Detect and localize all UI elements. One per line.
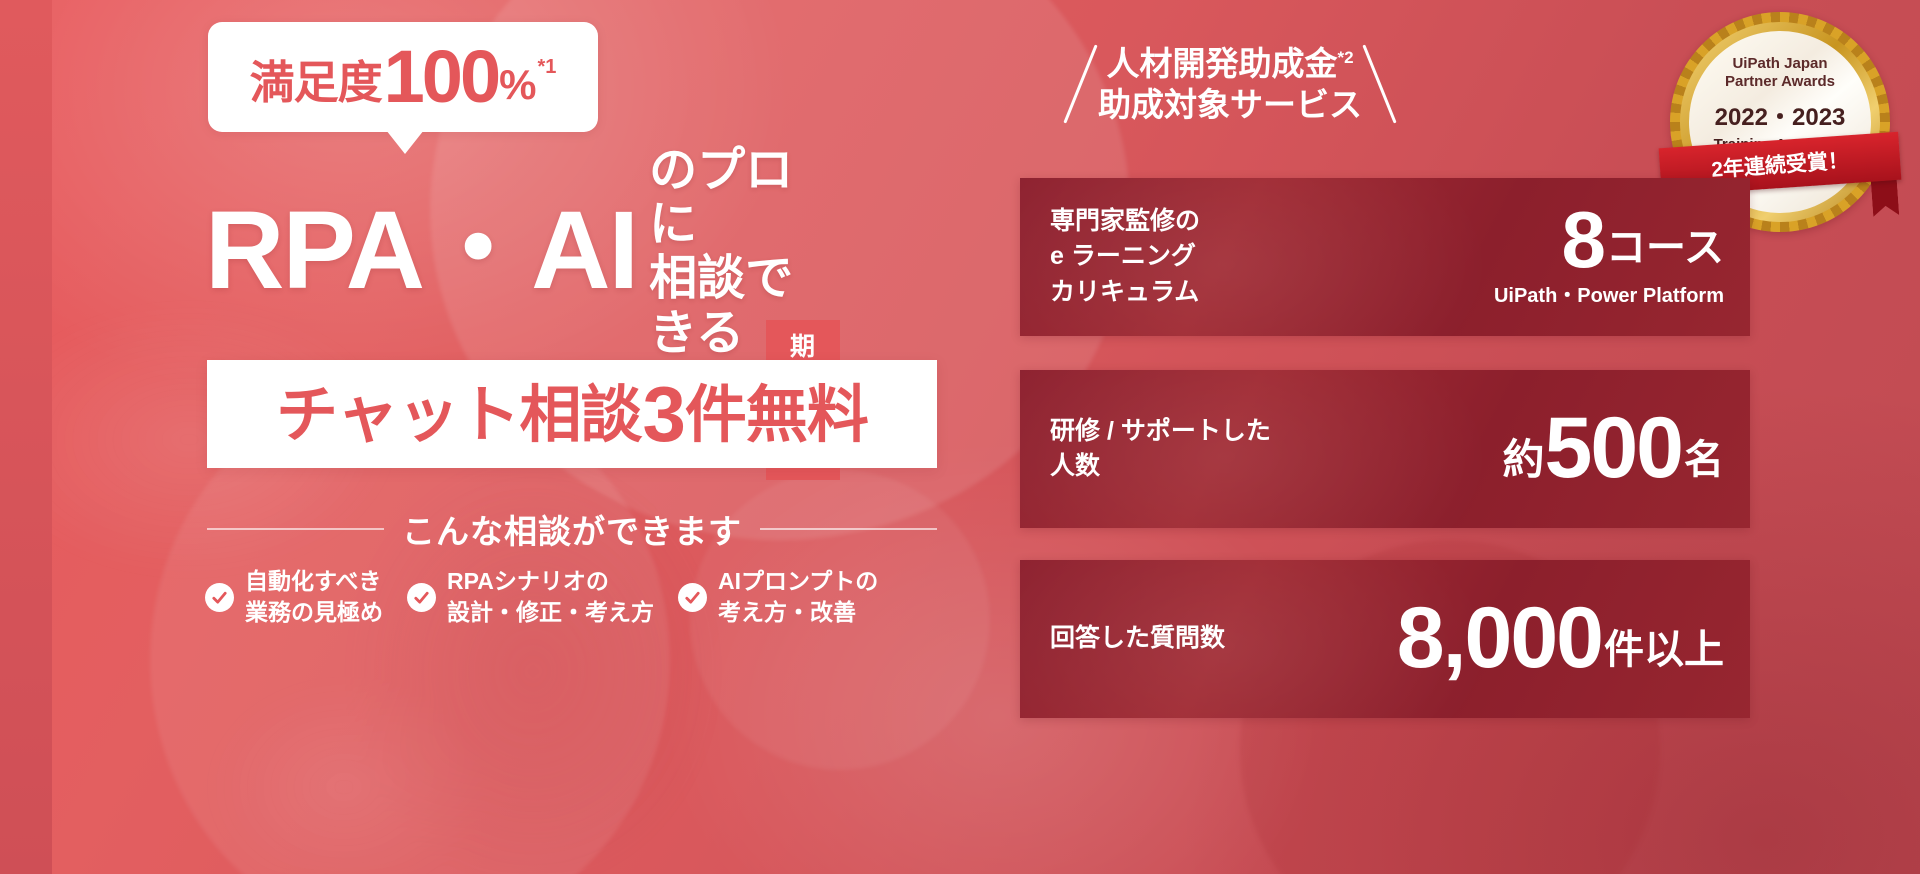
stat-value-subtext: UiPath・Power Platform [1494, 279, 1724, 308]
satisfaction-badge: 満足度 100 % *1 [208, 22, 598, 132]
chat-consultation-offer: チャット相談 3 件無料 [207, 360, 937, 468]
stat-card-value: 8,000 件以上 [1397, 602, 1750, 675]
satisfaction-label: 満足度 [250, 60, 382, 110]
stat-label-line2: e ラーニング [1050, 242, 1196, 270]
slash-decoration-left [1063, 44, 1097, 123]
check-circle-icon [678, 583, 707, 612]
chat-offer-count: 3 [642, 379, 683, 449]
satisfaction-number: 100 [384, 44, 498, 109]
stat-label-line1: 回答した質問数 [1050, 624, 1225, 652]
stat-value-number: 8,000 [1397, 602, 1602, 675]
list-item: RPAシナリオの 設計・修正・考え方 [407, 566, 654, 628]
headline-sub-line1: のプロに [649, 144, 793, 251]
stat-value-unit: 名 [1684, 440, 1724, 486]
stat-value-number: 500 [1545, 412, 1683, 485]
ribbon-tail-right [1871, 179, 1899, 217]
consultation-topics-label: こんな相談ができます [402, 505, 742, 553]
stat-card-value: 約 500 名 [1502, 412, 1750, 485]
stat-label-line1: 専門家監修の [1050, 207, 1200, 235]
subsidy-line2: 助成対象サービス [1098, 86, 1362, 123]
stat-value-unit: コース [1606, 228, 1724, 274]
check-circle-icon [407, 583, 436, 612]
stat-value-prefix: 約 [1502, 439, 1544, 486]
chat-offer-suffix: 件無料 [685, 385, 868, 449]
consultation-topics-heading: こんな相談ができます [207, 505, 937, 553]
satisfaction-footnote: *1 [537, 44, 556, 79]
headline-main-text: RPA・AI [205, 199, 637, 302]
slash-decoration-right [1362, 44, 1396, 123]
satisfaction-percent-symbol: % [499, 64, 536, 110]
stat-card-questions-answered: 回答した質問数 8,000 件以上 [1020, 560, 1750, 718]
stat-card-label: 専門家監修の e ラーニング カリキュラム [1020, 204, 1200, 311]
stat-card-people-trained: 研修 / サポートした 人数 約 500 名 [1020, 370, 1750, 528]
page-title: RPA・AI のプロに 相談できる [205, 140, 840, 361]
list-item-line1: RPAシナリオの [447, 568, 609, 594]
list-item-line1: 自動化すべき [245, 568, 381, 594]
list-item-line2: 考え方・改善 [718, 599, 856, 625]
right-content-column: 人材開発助成金*2 助成対象サービス UiPath Japan Partner … [1020, 0, 1920, 874]
consultation-topics-list: 自動化すべき 業務の見極め RPAシナリオの 設計・修正・考え方 [205, 566, 945, 628]
list-item-line2: 業務の見極め [245, 599, 383, 625]
list-item-line1: AIプロンプトの [718, 568, 878, 594]
stat-label-line3: カリキュラム [1050, 278, 1199, 306]
left-content-column: 満足度 100 % *1 RPA・AI のプロに 相談できる 期限なし チャット… [0, 0, 840, 874]
list-item: AIプロンプトの 考え方・改善 [678, 566, 878, 628]
subsidy-eligibility-heading: 人材開発助成金*2 助成対象サービス [1020, 42, 1440, 126]
stat-card-label: 回答した質問数 [1020, 621, 1225, 657]
check-circle-icon [205, 583, 234, 612]
divider-right [760, 528, 937, 530]
list-item: 自動化すべき 業務の見極め [205, 566, 383, 628]
stat-card-courses: 専門家監修の e ラーニング カリキュラム 8 コース UiPath・Power… [1020, 178, 1750, 336]
stat-label-line1: 研修 / サポートした [1050, 417, 1271, 445]
seal-org-line1: UiPath Japan [1732, 55, 1827, 72]
seal-years: 2022・2023 [1715, 97, 1846, 132]
seal-organization: UiPath Japan Partner Awards [1725, 55, 1835, 92]
chat-offer-prefix: チャット相談 [276, 385, 641, 449]
list-item-label: RPAシナリオの 設計・修正・考え方 [447, 566, 654, 628]
seal-org-line2: Partner Awards [1725, 73, 1835, 90]
stat-value-number: 8 [1562, 206, 1605, 274]
stat-card-value: 8 コース UiPath・Power Platform [1494, 206, 1750, 308]
stat-label-line2: 人数 [1050, 452, 1100, 480]
subsidy-footnote: *2 [1337, 48, 1353, 67]
list-item-line2: 設計・修正・考え方 [447, 599, 654, 625]
divider-left [207, 528, 384, 530]
subsidy-heading-text: 人材開発助成金*2 助成対象サービス [1098, 43, 1362, 126]
list-item-label: AIプロンプトの 考え方・改善 [718, 566, 878, 628]
subsidy-line1: 人材開発助成金 [1106, 45, 1337, 82]
promo-banner: 満足度 100 % *1 RPA・AI のプロに 相談できる 期限なし チャット… [0, 0, 1920, 874]
stat-value-unit: 件以上 [1604, 630, 1724, 676]
stat-card-label: 研修 / サポートした 人数 [1020, 414, 1271, 485]
list-item-label: 自動化すべき 業務の見極め [245, 566, 383, 628]
